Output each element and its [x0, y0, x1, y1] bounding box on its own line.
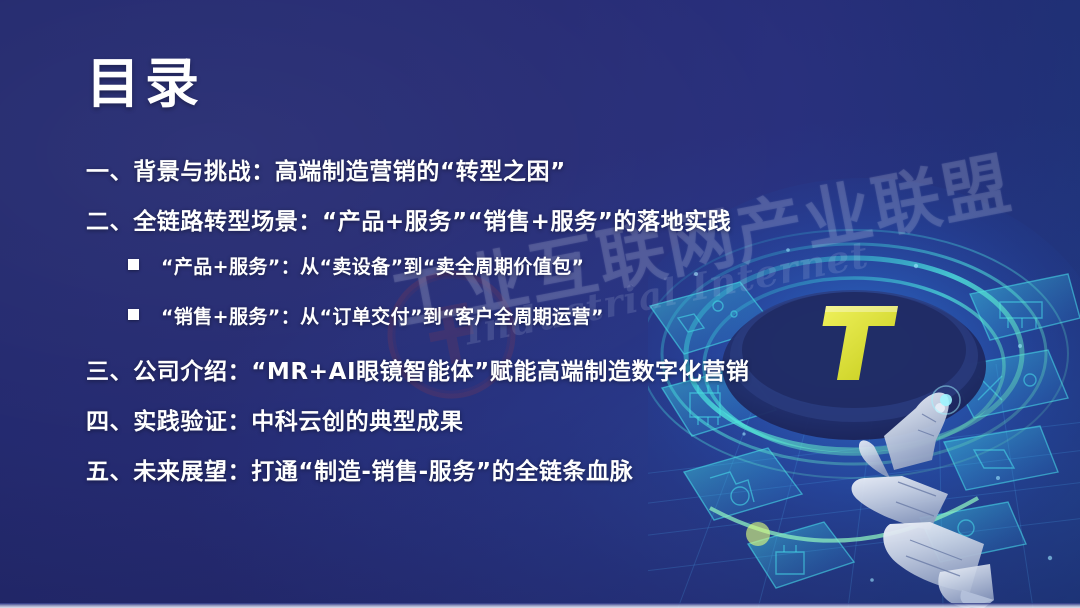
toc-subitem-label: “产品+服务”：从“卖设备”到“卖全周期价值包”	[161, 252, 584, 279]
toc-subitem-label: “销售+服务”：从“订单交付”到“客户全周期运营”	[161, 302, 604, 329]
toc-item-2[interactable]: 二、全链路转型场景：“产品+服务”“销售+服务”的落地实践	[86, 202, 916, 252]
toc-item-label: 三、公司介绍：“MR+AI眼镜智能体”赋能高端制造数字化营销	[86, 352, 749, 386]
table-of-contents: 一、背景与挑战：高端制造营销的“转型之困” 二、全链路转型场景：“产品+服务”“…	[86, 152, 916, 502]
toc-item-label: 四、实践验证：中科云创的典型成果	[86, 402, 464, 436]
toc-item-4[interactable]: 四、实践验证：中科云创的典型成果	[86, 402, 916, 452]
toc-item-1[interactable]: 一、背景与挑战：高端制造营销的“转型之困”	[86, 152, 916, 202]
toc-item-label: 一、背景与挑战：高端制造营销的“转型之困”	[86, 152, 566, 186]
square-bullet-icon	[128, 259, 139, 270]
toc-subitem-2-1[interactable]: “产品+服务”：从“卖设备”到“卖全周期价值包”	[86, 252, 916, 302]
page-title: 目录	[86, 56, 204, 113]
bottom-edge-strip	[0, 603, 1080, 608]
slide-root: 工业互联网产业联盟 Industrial Internet 目录 一、背景与挑战…	[0, 0, 1080, 608]
toc-item-3[interactable]: 三、公司介绍：“MR+AI眼镜智能体”赋能高端制造数字化营销	[86, 352, 916, 402]
square-bullet-icon	[128, 309, 139, 320]
slide-content: 目录 一、背景与挑战：高端制造营销的“转型之困” 二、全链路转型场景：“产品+服…	[0, 0, 1080, 608]
toc-item-5[interactable]: 五、未来展望：打通“制造-销售-服务”的全链条血脉	[86, 452, 916, 502]
toc-item-label: 五、未来展望：打通“制造-销售-服务”的全链条血脉	[86, 452, 633, 486]
toc-subitem-2-2[interactable]: “销售+服务”：从“订单交付”到“客户全周期运营”	[86, 302, 916, 352]
toc-item-label: 二、全链路转型场景：“产品+服务”“销售+服务”的落地实践	[86, 202, 731, 236]
